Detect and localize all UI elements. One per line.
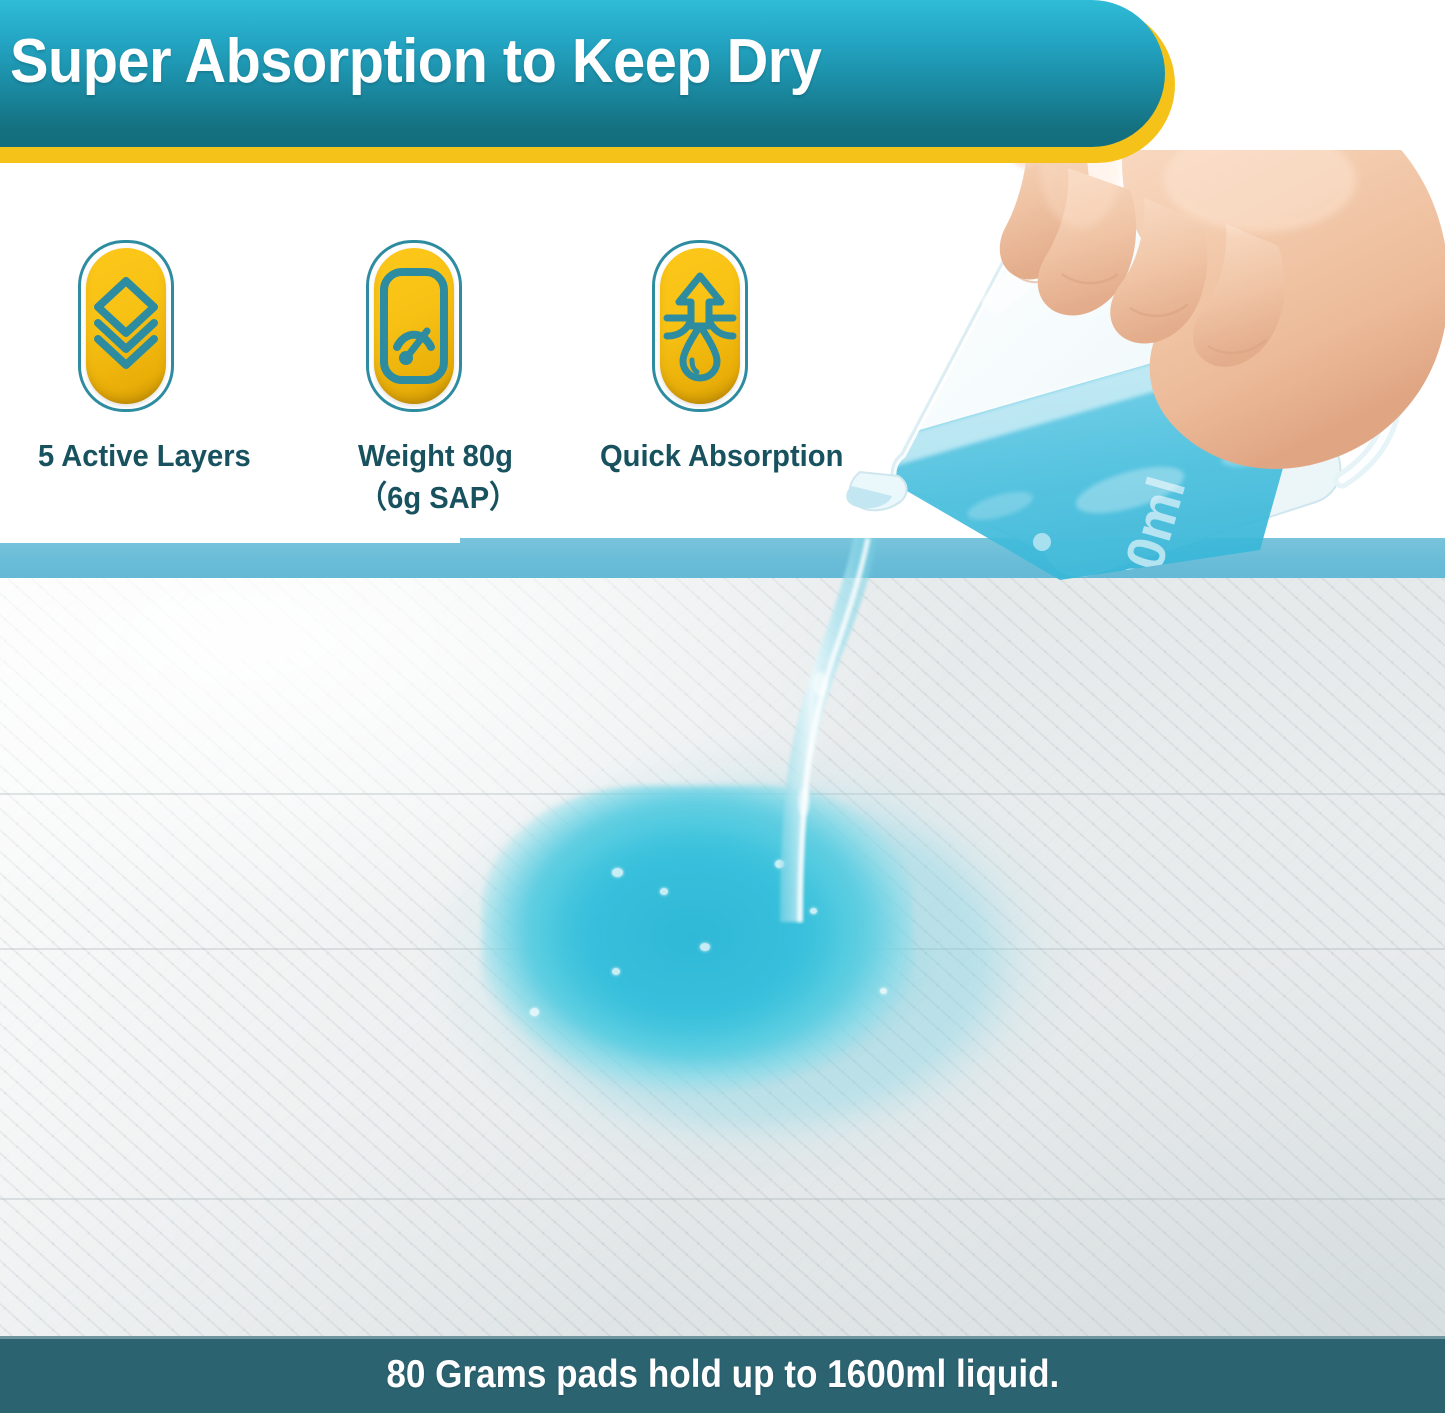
header-banner: Super Absorption to Keep Dry xyxy=(0,0,1175,163)
feature-item-absorption xyxy=(652,240,748,412)
feature-label-layers: 5 Active Layers xyxy=(38,435,251,477)
feature-label-layers-line1: 5 Active Layers xyxy=(38,438,251,473)
liquid-bubble xyxy=(660,888,668,895)
feature-label-absorption-line1: Quick Absorption xyxy=(600,438,843,473)
liquid-bubble xyxy=(700,943,710,951)
feature-icon-frame xyxy=(652,240,748,412)
feature-label-weight: Weight 80g （6g SAP） xyxy=(358,435,518,519)
product-demo-scene xyxy=(0,538,1445,1336)
feature-item-layers xyxy=(78,240,174,412)
footer-banner: 80 Grams pads hold up to 1600ml liquid. xyxy=(0,1336,1445,1413)
feature-label-absorption: Quick Absorption xyxy=(600,435,843,477)
liquid-bubble xyxy=(612,868,623,877)
feature-icon-frame xyxy=(78,240,174,412)
liquid-bubble xyxy=(612,968,620,975)
feature-icon-frame xyxy=(366,240,462,412)
page-title: Super Absorption to Keep Dry xyxy=(10,26,821,97)
footer-text: 80 Grams pads hold up to 1600ml liquid. xyxy=(386,1353,1059,1397)
feature-item-weight xyxy=(366,240,462,412)
liquid-bubble xyxy=(880,988,887,994)
infographic-canvas: 00ml xyxy=(0,0,1445,1413)
feature-label-weight-line2: （6g SAP） xyxy=(358,477,518,519)
liquid-bubble xyxy=(530,1008,539,1016)
quick-absorption-icon xyxy=(660,248,740,404)
layers-icon xyxy=(86,248,166,404)
beaker-and-hand-group: 00ml xyxy=(830,150,1445,620)
pad-seam-line xyxy=(0,1198,1445,1200)
feature-label-weight-line1: Weight 80g xyxy=(358,438,513,473)
gauge-weight-icon xyxy=(374,248,454,404)
